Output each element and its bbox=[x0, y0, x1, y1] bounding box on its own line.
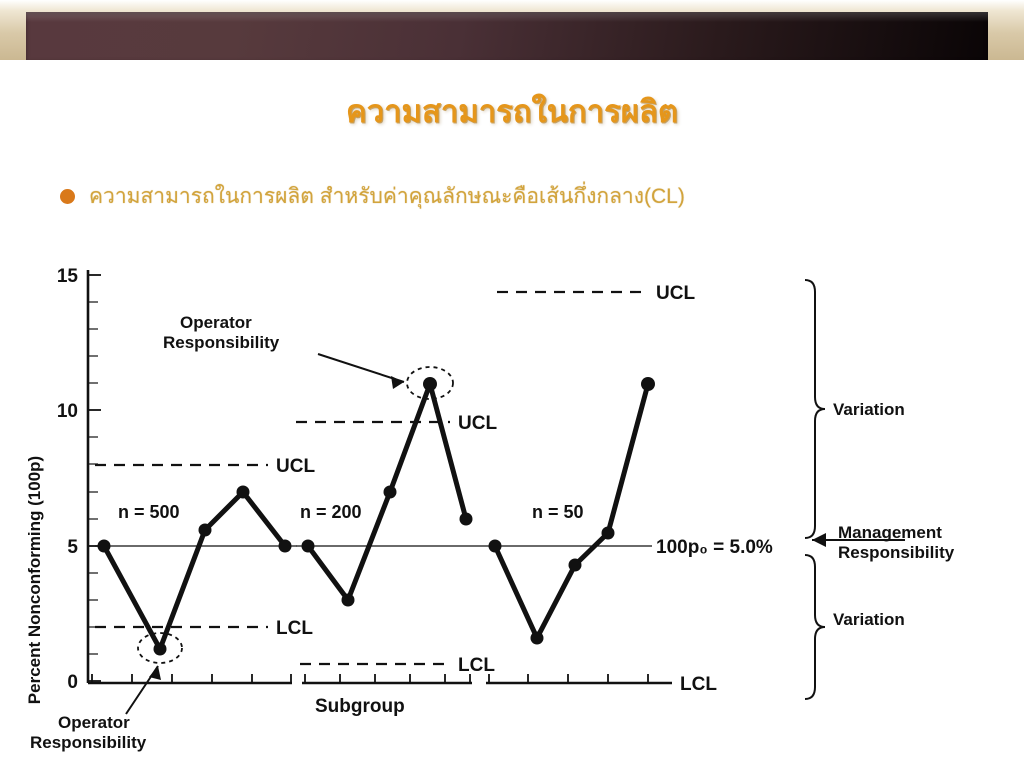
annotation-operator-responsibility-bottom: Operator Responsibility bbox=[30, 666, 161, 752]
y-tick-label-15: 15 bbox=[57, 266, 79, 287]
series-group-n500: UCL LCL n = 500 bbox=[88, 456, 315, 683]
center-line-value-label: 100p₀ = 5.0% bbox=[656, 537, 773, 558]
data-point bbox=[237, 486, 250, 499]
sample-size-label-n50: n = 50 bbox=[532, 502, 584, 522]
series-group-n50: UCL LCL n = 50 bbox=[486, 283, 717, 695]
bullet-text: ความสามารถในการผลิต สำหรับค่าคุณลักษณะคื… bbox=[89, 180, 685, 213]
annotation-line-1: Operator bbox=[58, 713, 130, 732]
variation-lower-label: Variation bbox=[833, 610, 905, 629]
bullet-row: ความสามารถในการผลิต สำหรับค่าคุณลักษณะคื… bbox=[60, 180, 960, 213]
ucl-label-n200: UCL bbox=[458, 413, 497, 434]
annotation-operator-responsibility-top: Operator Responsibility bbox=[163, 313, 404, 389]
y-tick-label-0: 0 bbox=[67, 672, 78, 693]
annotation-variation-lower: Variation bbox=[805, 555, 905, 699]
control-chart-figure: Percent Nonconforming (100p) 15 10 5 0 U… bbox=[0, 250, 1024, 768]
annotation-line-2: Responsibility bbox=[30, 733, 147, 752]
data-point bbox=[384, 486, 397, 499]
lcl-label-n500: LCL bbox=[276, 618, 313, 639]
data-point bbox=[569, 559, 582, 572]
data-point bbox=[460, 513, 473, 526]
ucl-label-n500: UCL bbox=[276, 456, 315, 477]
data-point bbox=[489, 540, 502, 553]
y-axis-ticks bbox=[88, 275, 101, 681]
management-line-1: Management bbox=[838, 523, 942, 542]
page-title: ความสามารถในการผลิต bbox=[0, 86, 1024, 136]
variation-upper-label: Variation bbox=[833, 400, 905, 419]
annotation-management-responsibility: Management Responsibility bbox=[812, 523, 955, 562]
x-axis-title: Subgroup bbox=[315, 696, 405, 717]
sample-size-label-n500: n = 500 bbox=[118, 502, 180, 522]
annotation-line-1: Operator bbox=[180, 313, 252, 332]
data-point bbox=[279, 540, 292, 553]
ucl-label-n50: UCL bbox=[656, 283, 695, 304]
banner-sheen bbox=[26, 12, 988, 22]
y-axis-title: Percent Nonconforming (100p) bbox=[25, 456, 44, 704]
data-point bbox=[302, 540, 315, 553]
data-point bbox=[602, 527, 615, 540]
management-line-2: Responsibility bbox=[838, 543, 955, 562]
data-point bbox=[98, 540, 111, 553]
data-point bbox=[154, 643, 167, 656]
sample-size-label-n200: n = 200 bbox=[300, 502, 362, 522]
lcl-label-n50: LCL bbox=[680, 674, 717, 695]
data-point bbox=[531, 632, 544, 645]
data-point bbox=[342, 594, 355, 607]
data-point bbox=[199, 524, 212, 537]
y-tick-label-5: 5 bbox=[67, 537, 78, 558]
series-group-n200: UCL LCL n = 200 Subgroup bbox=[296, 367, 497, 717]
annotation-variation-upper: Variation bbox=[805, 280, 905, 538]
bullet-dot-icon bbox=[60, 189, 75, 204]
y-tick-label-10: 10 bbox=[57, 401, 78, 422]
annotation-line-2: Responsibility bbox=[163, 333, 280, 352]
data-point bbox=[641, 377, 655, 391]
slide-banner bbox=[0, 0, 1024, 60]
lcl-label-n200: LCL bbox=[458, 655, 495, 676]
data-point bbox=[423, 377, 437, 391]
